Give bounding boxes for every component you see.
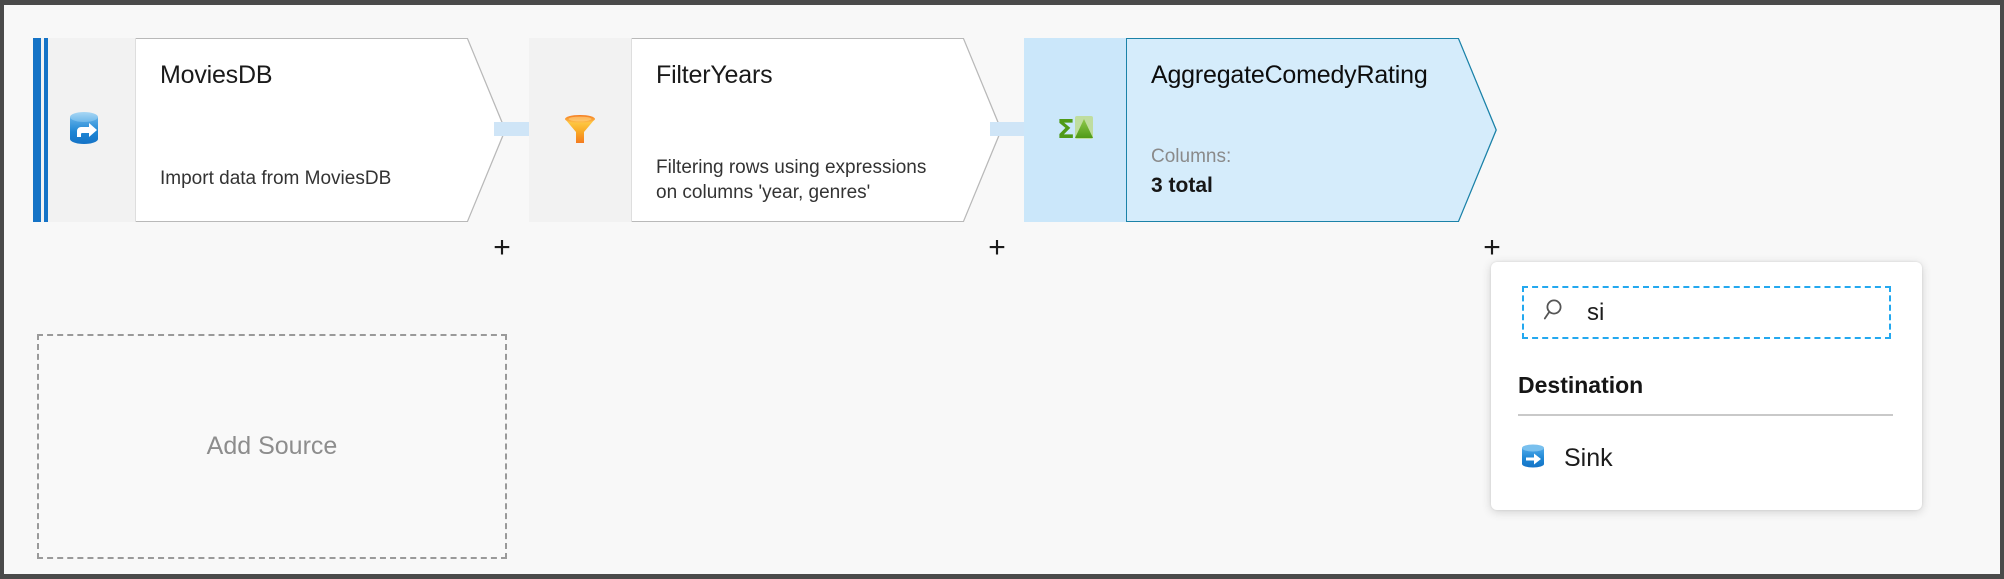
add-transformation-button-3[interactable]: + [1477, 233, 1507, 263]
search-icon [1543, 297, 1569, 328]
transformation-picker-dropdown[interactable]: si Destination [1491, 262, 1922, 510]
connector-filter-to-aggregate [990, 122, 1028, 136]
columns-value: 3 total [1151, 171, 1231, 200]
node-title: AggregateComedyRating [1151, 62, 1497, 90]
node-icon-gutter: Σ [1024, 38, 1127, 222]
add-source-label: Add Source [207, 432, 338, 461]
flow-node-source[interactable]: MoviesDB Import data from MoviesDB [33, 38, 506, 222]
node-columns-info: Columns: 3 total [1151, 143, 1231, 200]
sigma-aggregate-icon: Σ [1055, 108, 1095, 153]
sink-icon [1518, 441, 1548, 476]
dropdown-section-heading: Destination [1518, 372, 1643, 399]
node-subtitle: Filtering rows using expressions on colu… [656, 155, 932, 206]
add-transformation-button-2[interactable]: + [982, 233, 1012, 263]
database-import-icon [64, 108, 104, 153]
connector-source-to-filter [494, 122, 530, 136]
node-body: FilterYears Filtering rows using express… [632, 38, 1002, 222]
funnel-filter-icon [560, 108, 600, 153]
node-title: MoviesDB [160, 62, 506, 90]
search-field-wrapper[interactable]: si [1522, 286, 1891, 339]
dropdown-item-label: Sink [1564, 444, 1613, 473]
node-subtitle: Import data from MoviesDB [160, 166, 436, 192]
dropdown-item-sink[interactable]: Sink [1518, 434, 1896, 482]
pipeline-flow: MoviesDB Import data from MoviesDB + [4, 5, 2000, 275]
search-input[interactable]: si [1587, 299, 1604, 327]
add-source-placeholder[interactable]: Add Source [37, 334, 507, 559]
dropdown-divider [1518, 414, 1893, 416]
flow-node-filter[interactable]: FilterYears Filtering rows using express… [529, 38, 1002, 222]
node-body: AggregateComedyRating Columns: 3 total [1127, 38, 1497, 222]
columns-label: Columns: [1151, 143, 1231, 171]
svg-text:Σ: Σ [1057, 115, 1075, 145]
source-accent-bar [33, 38, 49, 222]
add-transformation-button-1[interactable]: + [487, 233, 517, 263]
node-body: MoviesDB Import data from MoviesDB [136, 38, 506, 222]
flow-node-aggregate[interactable]: Σ AggregateComedyRating Columns: 3 total [1024, 38, 1497, 222]
node-title: FilterYears [656, 62, 1002, 90]
dataflow-canvas[interactable]: MoviesDB Import data from MoviesDB + [4, 5, 2000, 574]
node-icon-gutter [529, 38, 632, 222]
